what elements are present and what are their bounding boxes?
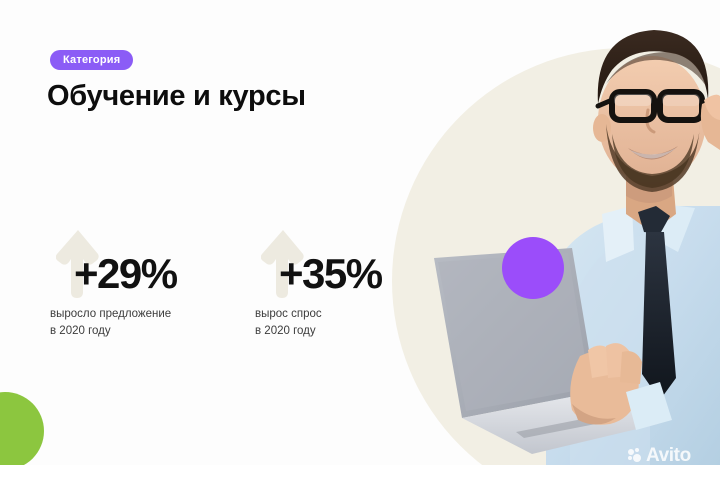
stat-caption-line2: в 2020 году	[50, 323, 255, 340]
promo-banner: Категория Обучение и курсы +29% выросло …	[0, 0, 720, 483]
stat-value: +29%	[74, 250, 177, 298]
person-photo	[420, 0, 720, 466]
stat-caption: вырос спрос в 2020 году	[255, 306, 322, 340]
page-title: Обучение и курсы	[47, 80, 306, 113]
green-circle-decoration	[0, 392, 44, 470]
purple-circle-decoration	[502, 237, 564, 299]
avito-wordmark: Avito	[646, 446, 691, 465]
stat-item: +35% вырос спрос в 2020 году	[255, 228, 322, 340]
person-illustration	[420, 0, 720, 466]
bottom-strip	[0, 465, 720, 483]
avito-logo-icon	[628, 448, 643, 463]
stat-item: +29% выросло предложение в 2020 году	[50, 228, 255, 340]
stat-caption-line2: в 2020 году	[255, 323, 322, 340]
stat-caption-line1: вырос спрос	[255, 306, 322, 323]
statistics-group: +29% выросло предложение в 2020 году +35…	[50, 228, 322, 340]
avito-watermark: Avito	[628, 446, 691, 465]
stat-caption: выросло предложение в 2020 году	[50, 306, 255, 340]
stat-value: +35%	[279, 250, 382, 298]
category-badge: Категория	[50, 50, 133, 70]
stat-caption-line1: выросло предложение	[50, 306, 255, 323]
